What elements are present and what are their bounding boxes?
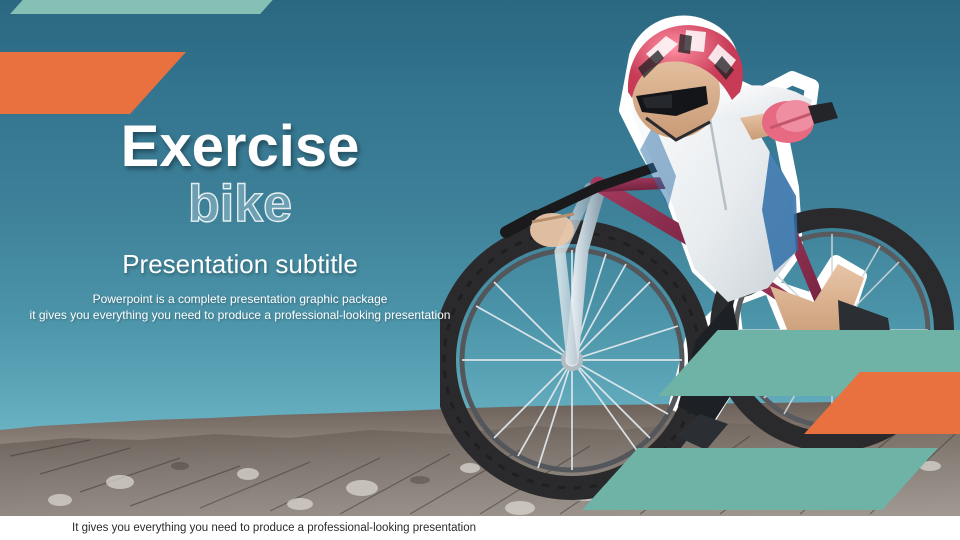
title-text-block: Exercise bike Presentation subtitle Powe…	[0, 118, 480, 323]
footer-caption: It gives you everything you need to prod…	[72, 522, 476, 534]
slide-title-line2: bike	[0, 178, 480, 230]
decor-green-bottom-right-2	[582, 448, 938, 510]
slide-subtitle: Presentation subtitle	[0, 250, 480, 279]
slide-blurb-line1: Powerpoint is a complete presentation gr…	[0, 291, 480, 307]
slide-title-line1: Exercise	[0, 118, 480, 176]
footer-bar: It gives you everything you need to prod…	[0, 516, 960, 540]
slide-blurb-line2: it gives you everything you need to prod…	[0, 307, 480, 323]
presentation-slide: Exercise bike Presentation subtitle Powe…	[0, 0, 960, 540]
slide-blurb: Powerpoint is a complete presentation gr…	[0, 291, 480, 323]
